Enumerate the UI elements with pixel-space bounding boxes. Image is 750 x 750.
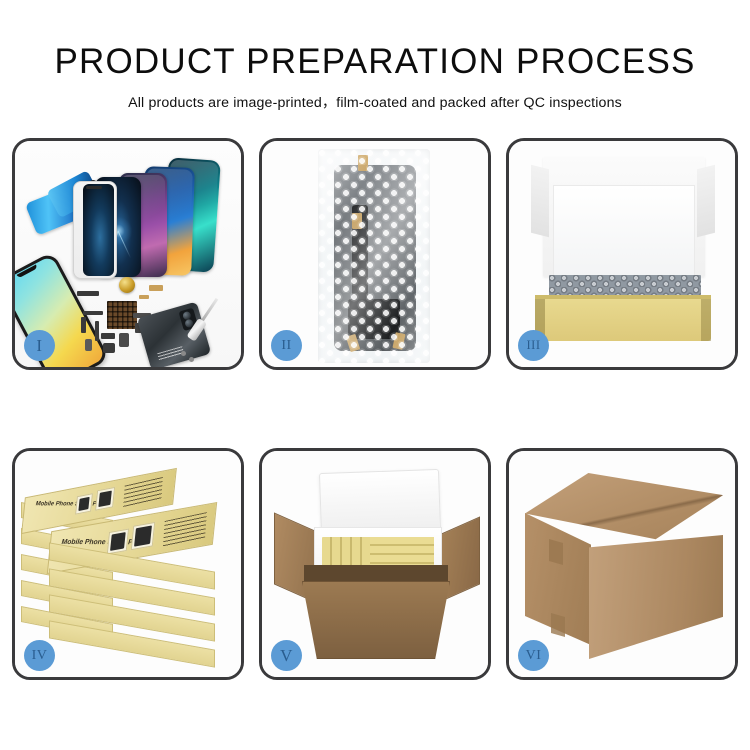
open-kraft-box-graphic bbox=[523, 157, 723, 347]
sealed-carton-graphic bbox=[525, 473, 723, 659]
step-badge-5: V bbox=[271, 640, 302, 671]
process-step-grid: I II bbox=[12, 138, 738, 680]
spare-parts-cluster-graphic bbox=[77, 277, 195, 367]
carton-tape-lower bbox=[551, 613, 565, 637]
glass-screen-graphic bbox=[73, 181, 117, 279]
step-badge-4: IV bbox=[24, 640, 55, 671]
process-step-3[interactable]: III bbox=[506, 138, 738, 370]
page-title: PRODUCT PREPARATION PROCESS bbox=[0, 0, 750, 79]
open-carton-graphic bbox=[274, 465, 480, 667]
header: PRODUCT PREPARATION PROCESS All products… bbox=[0, 0, 750, 112]
process-step-4[interactable]: Mobile Phone Spare Parts Mobile Phone Sp… bbox=[12, 448, 244, 680]
process-step-2[interactable]: II bbox=[259, 138, 491, 370]
foam-sheet-graphic bbox=[553, 185, 695, 277]
phone-housing-graphic bbox=[137, 302, 211, 367]
process-step-6[interactable]: VI bbox=[506, 448, 738, 680]
product-preparation-infographic: PRODUCT PREPARATION PROCESS All products… bbox=[0, 0, 750, 750]
stacked-boxes-graphic: Mobile Phone Spare Parts Mobile Phone Sp… bbox=[19, 465, 241, 669]
carton-face-right bbox=[589, 535, 723, 659]
carton-body bbox=[302, 581, 450, 659]
process-step-1[interactable]: I bbox=[12, 138, 244, 370]
step-badge-2: II bbox=[271, 330, 302, 361]
page-subtitle: All products are image-printed，film-coat… bbox=[0, 79, 750, 112]
step-badge-1: I bbox=[24, 330, 55, 361]
carton-tape-upper bbox=[549, 539, 563, 565]
bubble-wrapped-part-graphic bbox=[318, 149, 430, 363]
step-badge-6: VI bbox=[518, 640, 549, 671]
step-badge-3: III bbox=[518, 330, 549, 361]
gold-component-graphic bbox=[119, 277, 135, 293]
process-step-5[interactable]: V bbox=[259, 448, 491, 680]
foam-lid-graphic bbox=[319, 469, 441, 535]
